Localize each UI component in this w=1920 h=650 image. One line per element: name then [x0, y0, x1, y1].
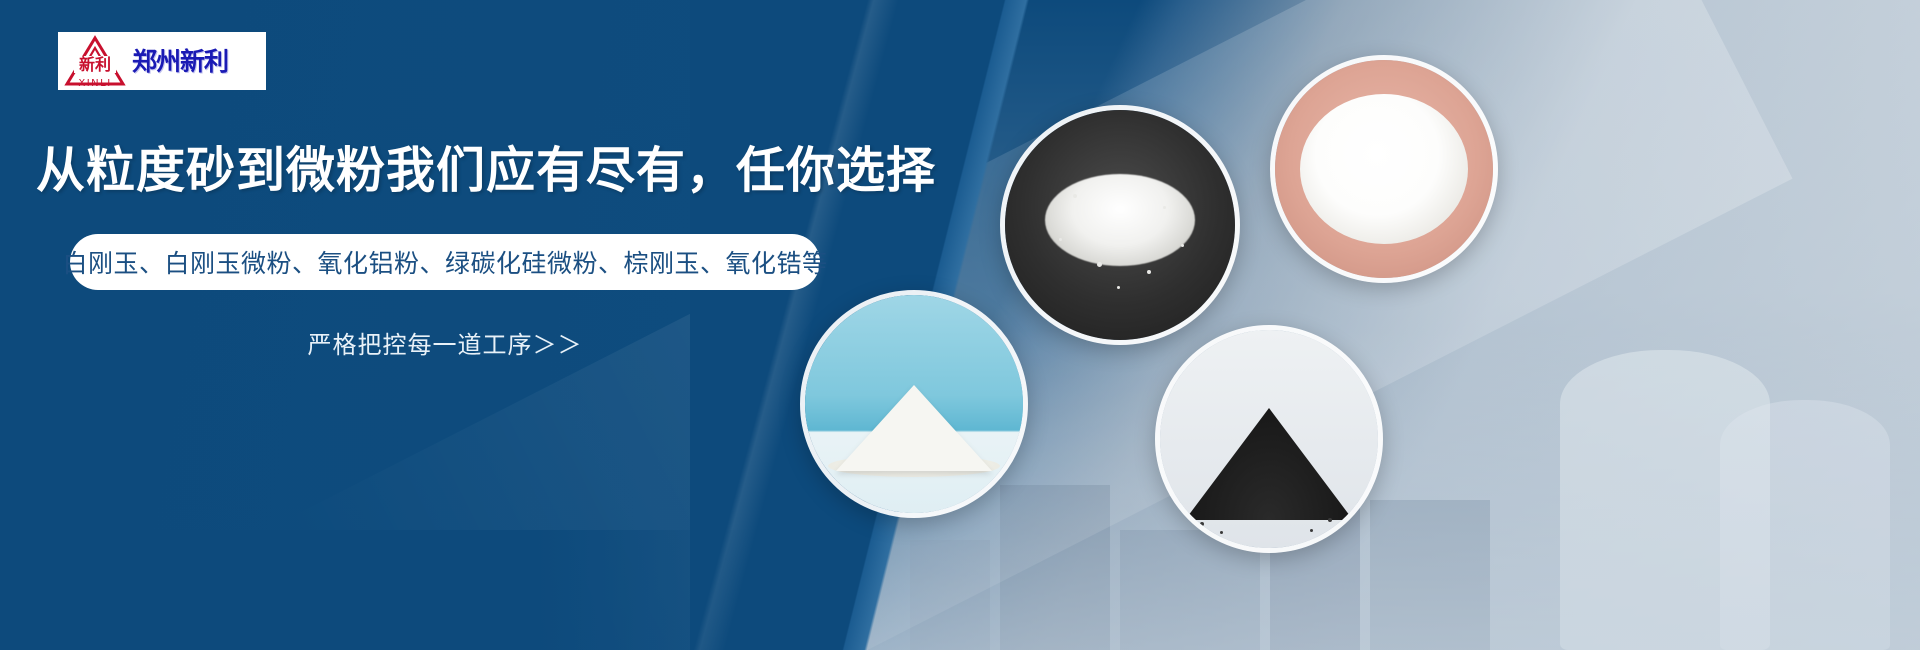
svg-text:XINLI: XINLI [78, 78, 111, 88]
bottom-left-shade [0, 530, 760, 650]
product-photo-black-granules[interactable] [1155, 325, 1383, 553]
promo-banner: 新利 XINLI 郑州新利 从粒度砂到微粉我们应有尽有，任你选择 白刚玉、白刚玉… [0, 0, 1920, 650]
product-photo-white-cone-cyan[interactable] [800, 290, 1028, 518]
triangle-logo-icon: 新利 XINLI [64, 34, 126, 88]
grain-speck [1073, 194, 1077, 198]
grain-speck [1163, 206, 1166, 209]
product-list-pill[interactable]: 白刚玉、白刚玉微粉、氧化铝粉、绿碳化硅微粉、棕刚玉、氧化锆等 [70, 234, 820, 290]
product-photo-white-grit[interactable] [1000, 105, 1240, 345]
grain-speck [1059, 238, 1062, 241]
product-list-text: 白刚玉、白刚玉微粉、氧化铝粉、绿碳化硅微粉、棕刚玉、氧化锆等 [63, 244, 828, 280]
svg-text:新利: 新利 [79, 55, 111, 74]
logo-company-name: 郑州新利 [132, 49, 228, 74]
powder-pile [1045, 174, 1195, 266]
grain-speck [1147, 270, 1151, 274]
company-logo[interactable]: 新利 XINLI 郑州新利 [58, 32, 266, 90]
powder-cone [836, 385, 992, 471]
hero-headline: 从粒度砂到微粉我们应有尽有，任你选择 [36, 143, 936, 199]
grain-speck [1328, 518, 1332, 522]
product-photo-white-powder-pink[interactable] [1270, 55, 1498, 283]
grain-speck [1117, 286, 1120, 289]
grain-speck [1310, 529, 1313, 532]
grain-speck [1200, 522, 1204, 526]
powder-pile [1300, 94, 1468, 244]
hero-tagline-link[interactable]: 严格把控每一道工序＞＞ [70, 325, 820, 360]
grain-speck [1181, 244, 1184, 247]
grain-speck [1220, 531, 1223, 534]
grain-speck [1097, 262, 1102, 267]
